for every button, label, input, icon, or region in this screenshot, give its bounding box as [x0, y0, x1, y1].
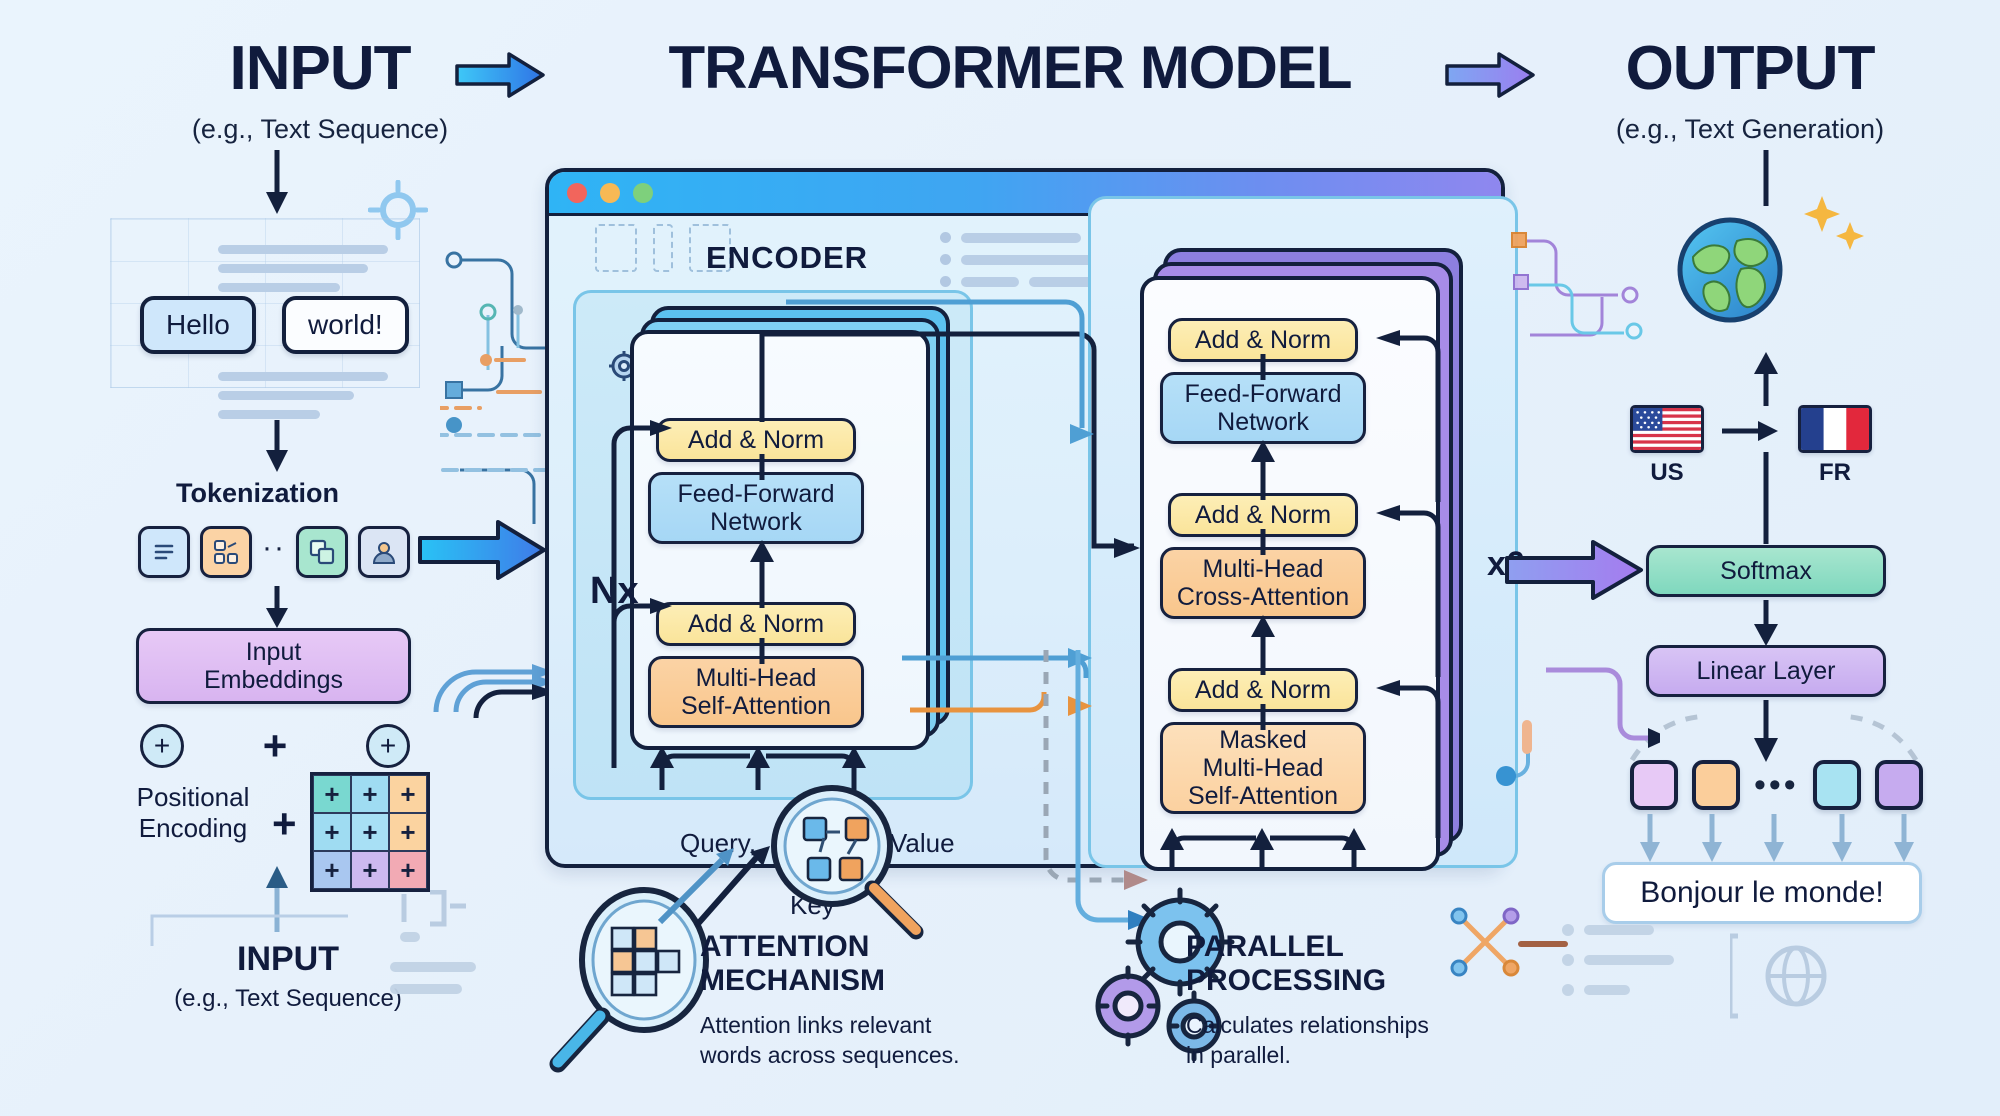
input-embeddings-label-line1: Input	[246, 638, 302, 666]
model-header: TRANSFORMER MODEL	[560, 38, 1460, 98]
encoder-addnorm-connector-2	[742, 638, 782, 664]
output-token-2[interactable]	[1692, 760, 1740, 810]
softmax-box[interactable]: Softmax	[1646, 545, 1886, 597]
positional-plus-sign: +	[272, 800, 297, 848]
positional-cell-1-0: +	[313, 813, 351, 851]
output-token-1[interactable]	[1630, 760, 1678, 810]
output-header: OUTPUT (e.g., Text Generation)	[1540, 38, 1960, 145]
globe-outline-decoration	[1730, 930, 1850, 1030]
attention-magnifier-icon-small	[752, 782, 942, 942]
header-arrow-model-to-output	[1445, 52, 1535, 98]
encoder-title: ENCODER	[706, 240, 868, 276]
positional-cell-2-0: +	[313, 851, 351, 889]
sparkle-icon	[1800, 188, 1870, 258]
positional-cell-0-0: +	[313, 775, 351, 813]
encoder-mhsa-line2: Self-Attention	[681, 692, 831, 720]
copy-icon[interactable]	[296, 526, 348, 578]
positional-cell-2-2: +	[389, 851, 427, 889]
token-icons-ellipsis: ··	[262, 548, 286, 556]
arrow-down-to-embeddings	[262, 586, 292, 630]
decoder-xatt-up-arrow	[1243, 611, 1283, 677]
plus-sign-middle: +	[263, 725, 288, 767]
globe-icon	[1675, 215, 1785, 325]
output-token-ellipsis: •••	[1754, 768, 1799, 802]
positional-cell-0-2: +	[389, 775, 427, 813]
decoder-multi-head-cross-attention[interactable]: Multi-Head Cross-Attention	[1160, 547, 1366, 619]
translation-arrow-icon	[1722, 418, 1780, 444]
us-flag-caption: US	[1630, 459, 1704, 487]
flags-to-softmax-line	[1752, 452, 1780, 546]
parallel-processing-annotation: PARALLEL PROCESSING Calculates relations…	[1186, 930, 1476, 1071]
user-icon[interactable]	[358, 526, 410, 578]
decoder-connector-1	[1243, 354, 1283, 380]
input-footer-title: INPUT	[148, 940, 428, 979]
decoder-connector-3	[1243, 704, 1283, 730]
minimize-dot-icon[interactable]	[600, 183, 620, 203]
attention-title-line1: ATTENTION	[700, 930, 869, 963]
decoder-ffn-up-arrow	[1243, 436, 1283, 502]
puzzle-icon[interactable]	[200, 526, 252, 578]
attention-title-line2: MECHANISM	[700, 964, 885, 997]
input-token-world[interactable]: world!	[282, 296, 409, 354]
input-header: INPUT (e.g., Text Sequence)	[130, 38, 510, 145]
model-to-output-arrow	[1505, 540, 1645, 600]
us-flag-icon	[1630, 405, 1704, 453]
output-result-box[interactable]: Bonjour le monde!	[1602, 862, 1922, 924]
attention-body-line1: Attention links relevant	[700, 1012, 931, 1038]
encoder-multi-head-self-attention[interactable]: Multi-Head Self-Attention	[648, 656, 864, 728]
positional-encoding-label: Positional Encoding	[118, 782, 268, 844]
attention-pointer-arrows	[650, 830, 780, 930]
output-token-3[interactable]	[1813, 760, 1861, 810]
input-footer-subtitle: (e.g., Text Sequence)	[148, 985, 428, 1013]
decoder-xatt-line1: Multi-Head	[1203, 555, 1324, 583]
plus-circle-icon-left: +	[140, 724, 184, 768]
close-dot-icon[interactable]	[567, 183, 587, 203]
input-footer: INPUT (e.g., Text Sequence)	[148, 940, 428, 1013]
input-text-lines-2	[218, 372, 388, 429]
dashbox-1	[595, 224, 637, 272]
attention-mechanism-annotation: ATTENTION MECHANISM Attention links rele…	[700, 930, 980, 1071]
output-token-row: •••	[1630, 760, 1923, 810]
positional-cell-1-1: +	[351, 813, 389, 851]
document-icon[interactable]	[138, 526, 190, 578]
token-icons-row: ··	[138, 526, 410, 578]
maximize-dot-icon[interactable]	[633, 183, 653, 203]
decoder-masked-multi-head-self-attention[interactable]: Masked Multi-Head Self-Attention	[1160, 722, 1366, 814]
parallel-title-line1: PARALLEL	[1186, 930, 1344, 963]
tokens-to-result-arrows	[1628, 814, 1938, 868]
positional-cell-0-1: +	[351, 775, 389, 813]
decoder-ffn-line1: Feed-Forward	[1185, 380, 1342, 408]
faint-list-decoration	[1560, 920, 1680, 1030]
dashbox-2	[653, 224, 673, 272]
input-embeddings-label-line2: Embeddings	[204, 666, 343, 694]
decoder-msa-line1: Masked	[1219, 726, 1307, 754]
encoder-to-decoder-lines	[760, 288, 1160, 588]
decoder-ffn-line2: Network	[1217, 408, 1309, 436]
positional-cell-2-1: +	[351, 851, 389, 889]
fr-flag-caption: FR	[1798, 459, 1872, 487]
input-token-hello[interactable]: Hello	[140, 296, 256, 354]
encoder-mhsa-line1: Multi-Head	[696, 664, 817, 692]
softmax-to-linear-arrow	[1752, 600, 1780, 648]
header-arrow-input-to-model	[455, 52, 545, 98]
output-subtitle: (e.g., Text Generation)	[1540, 114, 1960, 145]
parallel-body-line2: in parallel.	[1186, 1042, 1291, 1068]
decoder-qkv-inputs	[1158, 812, 1378, 876]
model-title: TRANSFORMER MODEL	[560, 38, 1460, 98]
decoder-connector-2	[1243, 529, 1283, 555]
positional-cell-1-2: +	[389, 813, 427, 851]
input-embeddings-box[interactable]: Input Embeddings	[136, 628, 411, 704]
decoder-residual-2	[1360, 493, 1444, 683]
positional-encoding-grid: +++++++++	[310, 772, 430, 892]
tokenization-label: Tokenization	[176, 478, 339, 509]
decoder-msa-line3: Self-Attention	[1188, 782, 1338, 810]
parallel-title-line2: PROCESSING	[1186, 964, 1386, 997]
decoder-feed-forward-network[interactable]: Feed-Forward Network	[1160, 372, 1366, 444]
decoder-xatt-line2: Cross-Attention	[1177, 583, 1349, 611]
decoder-residual-1	[1360, 318, 1444, 508]
input-text-lines	[218, 245, 388, 302]
circuit-decoration-right	[1510, 215, 1670, 435]
arrow-down-to-text	[262, 150, 292, 216]
plus-circle-icon-right: +	[366, 724, 410, 768]
flags-to-globe-arrow	[1752, 352, 1780, 406]
output-top-connector	[1752, 150, 1780, 208]
positional-label-line1: Positional	[137, 782, 250, 812]
embedding-plus-row: + + +	[140, 724, 410, 768]
input-subtitle: (e.g., Text Sequence)	[130, 114, 510, 145]
output-token-4[interactable]	[1875, 760, 1923, 810]
decoder-output-feed-arrows	[1540, 640, 1660, 780]
translation-flags-row: US FR	[1630, 405, 1872, 487]
output-title: OUTPUT	[1540, 38, 1960, 100]
diagram-canvas: INPUT (e.g., Text Sequence) TRANSFORMER …	[0, 0, 2000, 1116]
decoder-msa-line2: Multi-Head	[1203, 754, 1324, 782]
parallel-body-line1: Calculates relationships	[1186, 1012, 1429, 1038]
residual-input-arrows	[430, 600, 560, 720]
arrow-down-to-tokenization	[262, 420, 292, 474]
linear-layer-box[interactable]: Linear Layer	[1646, 645, 1886, 697]
fr-flag-icon	[1798, 405, 1872, 453]
attention-body-line2: words across sequences.	[700, 1042, 960, 1068]
input-to-model-arrow	[418, 520, 548, 580]
input-title: INPUT	[130, 38, 510, 100]
positional-label-line2: Encoding	[139, 813, 247, 843]
token-dashed-arcs	[1624, 706, 1924, 766]
